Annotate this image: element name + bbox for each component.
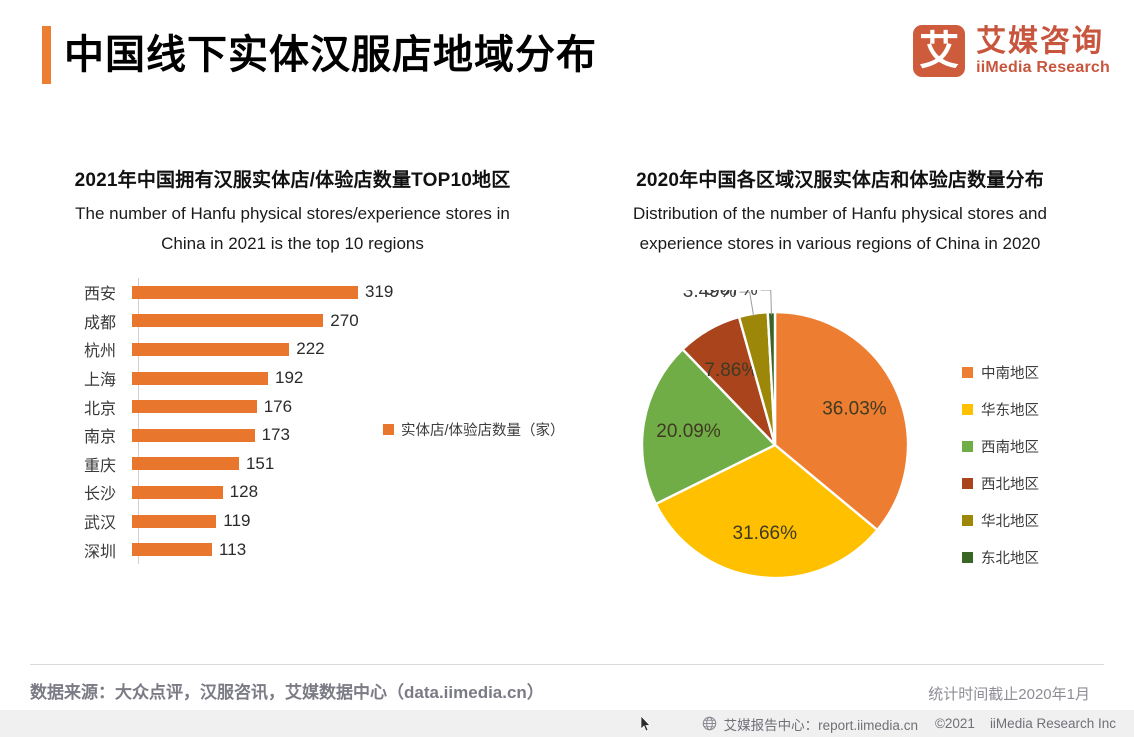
bar-track: 151 [130,450,555,479]
bar-category-label: 西安 [30,280,130,304]
brand-logo: 艾 艾媒咨询 iiMedia Research [913,25,1110,77]
bar-chart-legend: 实体店/体验店数量（家） [383,419,565,440]
pie-legend-label: 东北地区 [981,547,1039,568]
bar-category-label: 杭州 [30,337,130,361]
pie-legend-swatch-icon [962,367,973,378]
bar-track: 119 [130,507,555,536]
bar-category-label: 长沙 [30,480,130,504]
pie-legend-item[interactable]: 华北地区 [962,510,1039,531]
pie-legend-swatch-icon [962,552,973,563]
pie-legend-label: 中南地区 [981,362,1039,383]
logo-name-cn: 艾媒咨询 [976,27,1110,57]
bar-category-label: 武汉 [30,509,130,533]
pie-slice-label: 7.86% [704,360,758,381]
pie-legend-label: 西南地区 [981,436,1039,457]
bar-track: 128 [130,478,555,507]
bar-fill [132,286,358,299]
pie-legend-item[interactable]: 西南地区 [962,436,1039,457]
logo-mark-glyph: 艾 [913,30,965,72]
bar-fill [132,372,268,385]
pie-chart-title-en: Distribution of the number of Hanfu phys… [560,199,1120,259]
bar-fill [132,486,223,499]
bar-chart-title-en-line1: The number of Hanfu physical stores/expe… [75,204,510,223]
bar-value-label: 192 [275,368,303,388]
pie-legend-item[interactable]: 中南地区 [962,362,1039,383]
report-center-link[interactable]: 艾媒报告中心：report.iimedia.cn [724,714,918,734]
footer-data-source: 数据来源：大众点评，汉服咨讯，艾媒数据中心（data.iimedia.cn） [30,678,544,703]
bar-track: 270 [130,307,555,336]
pie-legend-swatch-icon [962,515,973,526]
bar-category-label: 深圳 [30,538,130,562]
bar-track: 192 [130,364,555,393]
logo-name-en: iiMedia Research [976,60,1110,76]
bar-fill [132,429,255,442]
pie-legend-label: 华北地区 [981,510,1039,531]
pie-chart-title-cn: 2020年中国各区域汉服实体店和体验店数量分布 [560,168,1120,194]
copyright-year: ©2021 [935,716,975,731]
bar-value-label: 173 [262,425,290,445]
pie-legend-swatch-icon [962,404,973,415]
bar-category-label: 南京 [30,423,130,447]
pie-legend-label: 华东地区 [981,399,1039,420]
footer-stat-date: 统计时间截止2020年1月 [928,683,1090,704]
pie-slice-label: 36.03% [822,399,887,420]
bar-chart-title-cn: 2021年中国拥有汉服实体店/体验店数量TOP10地区 [30,168,555,194]
bar-value-label: 319 [365,282,393,302]
bar-fill [132,515,216,528]
bar-chart-title-en-line2: China in 2021 is the top 10 regions [161,234,424,253]
bar-fill [132,314,323,327]
page-header: 中国线下实体汉服店地域分布 艾 艾媒咨询 iiMedia Research [0,0,1134,110]
bar-category-label: 北京 [30,395,130,419]
bar-track: 319 [130,278,555,307]
bar-category-label: 重庆 [30,452,130,476]
pie-chart-title-en-line2: experience stores in various regions of … [640,234,1041,253]
bar-value-label: 222 [296,339,324,359]
pie-legend-swatch-icon [962,478,973,489]
bar-track: 113 [130,535,555,564]
bar-track: 222 [130,335,555,364]
bar-legend-swatch-icon [383,424,394,435]
bar-chart-title-en: The number of Hanfu physical stores/expe… [30,199,555,259]
bar-value-label: 270 [330,311,358,331]
pie-chart: 36.03%31.66%20.09%7.86%3.49%0.87% [560,290,980,600]
bar-value-label: 151 [246,454,274,474]
pie-legend-label: 西北地区 [981,473,1039,494]
bar-chart-row: 武汉119 [30,507,555,536]
bar-value-label: 176 [264,397,292,417]
pie-legend-item[interactable]: 华东地区 [962,399,1039,420]
pie-slice-label: 20.09% [656,421,721,442]
globe-icon [702,716,717,731]
bar-chart-row: 重庆151 [30,450,555,479]
bar-chart-row: 北京176 [30,392,555,421]
bar-fill [132,343,289,356]
bar-category-label: 上海 [30,366,130,390]
company-name: iiMedia Research Inc [990,716,1116,731]
bar-track: 176 [130,392,555,421]
bar-category-label: 成都 [30,309,130,333]
bar-fill [132,543,212,556]
footer-divider [30,664,1104,665]
bar-chart-row: 杭州222 [30,335,555,364]
bar-chart-row: 深圳113 [30,535,555,564]
bar-chart-row: 长沙128 [30,478,555,507]
pie-legend-item[interactable]: 东北地区 [962,547,1039,568]
pie-slice-label: 31.66% [733,523,798,544]
page-title: 中国线下实体汉服店地域分布 [64,27,597,83]
bar-chart-panel: 2021年中国拥有汉服实体店/体验店数量TOP10地区 The number o… [30,168,555,598]
bar-chart-row: 成都270 [30,307,555,336]
pie-legend-swatch-icon [962,441,973,452]
bar-value-label: 119 [223,511,250,531]
iimedia-logo-mark-icon: 艾 [913,25,965,77]
pie-slice-label: 0.87% [704,290,758,300]
bar-chart-row: 西安319 [30,278,555,307]
bar-fill [132,400,257,413]
title-accent-bar [42,26,51,84]
bar-value-label: 113 [219,540,246,560]
bar-value-label: 128 [230,482,258,502]
pie-chart-title-en-line1: Distribution of the number of Hanfu phys… [633,204,1047,223]
logo-text: 艾媒咨询 iiMedia Research [976,27,1110,76]
pie-chart-legend: 中南地区华东地区西南地区西北地区华北地区东北地区 [962,362,1039,568]
pie-legend-item[interactable]: 西北地区 [962,473,1039,494]
bar-fill [132,457,239,470]
pie-chart-svg: 36.03%31.66%20.09%7.86%3.49%0.87% [560,290,980,600]
bar-chart-row: 上海192 [30,364,555,393]
bar-legend-label: 实体店/体验店数量（家） [401,419,565,440]
bottom-status-bar: 艾媒报告中心：report.iimedia.cn ©2021 iiMedia R… [0,710,1134,737]
